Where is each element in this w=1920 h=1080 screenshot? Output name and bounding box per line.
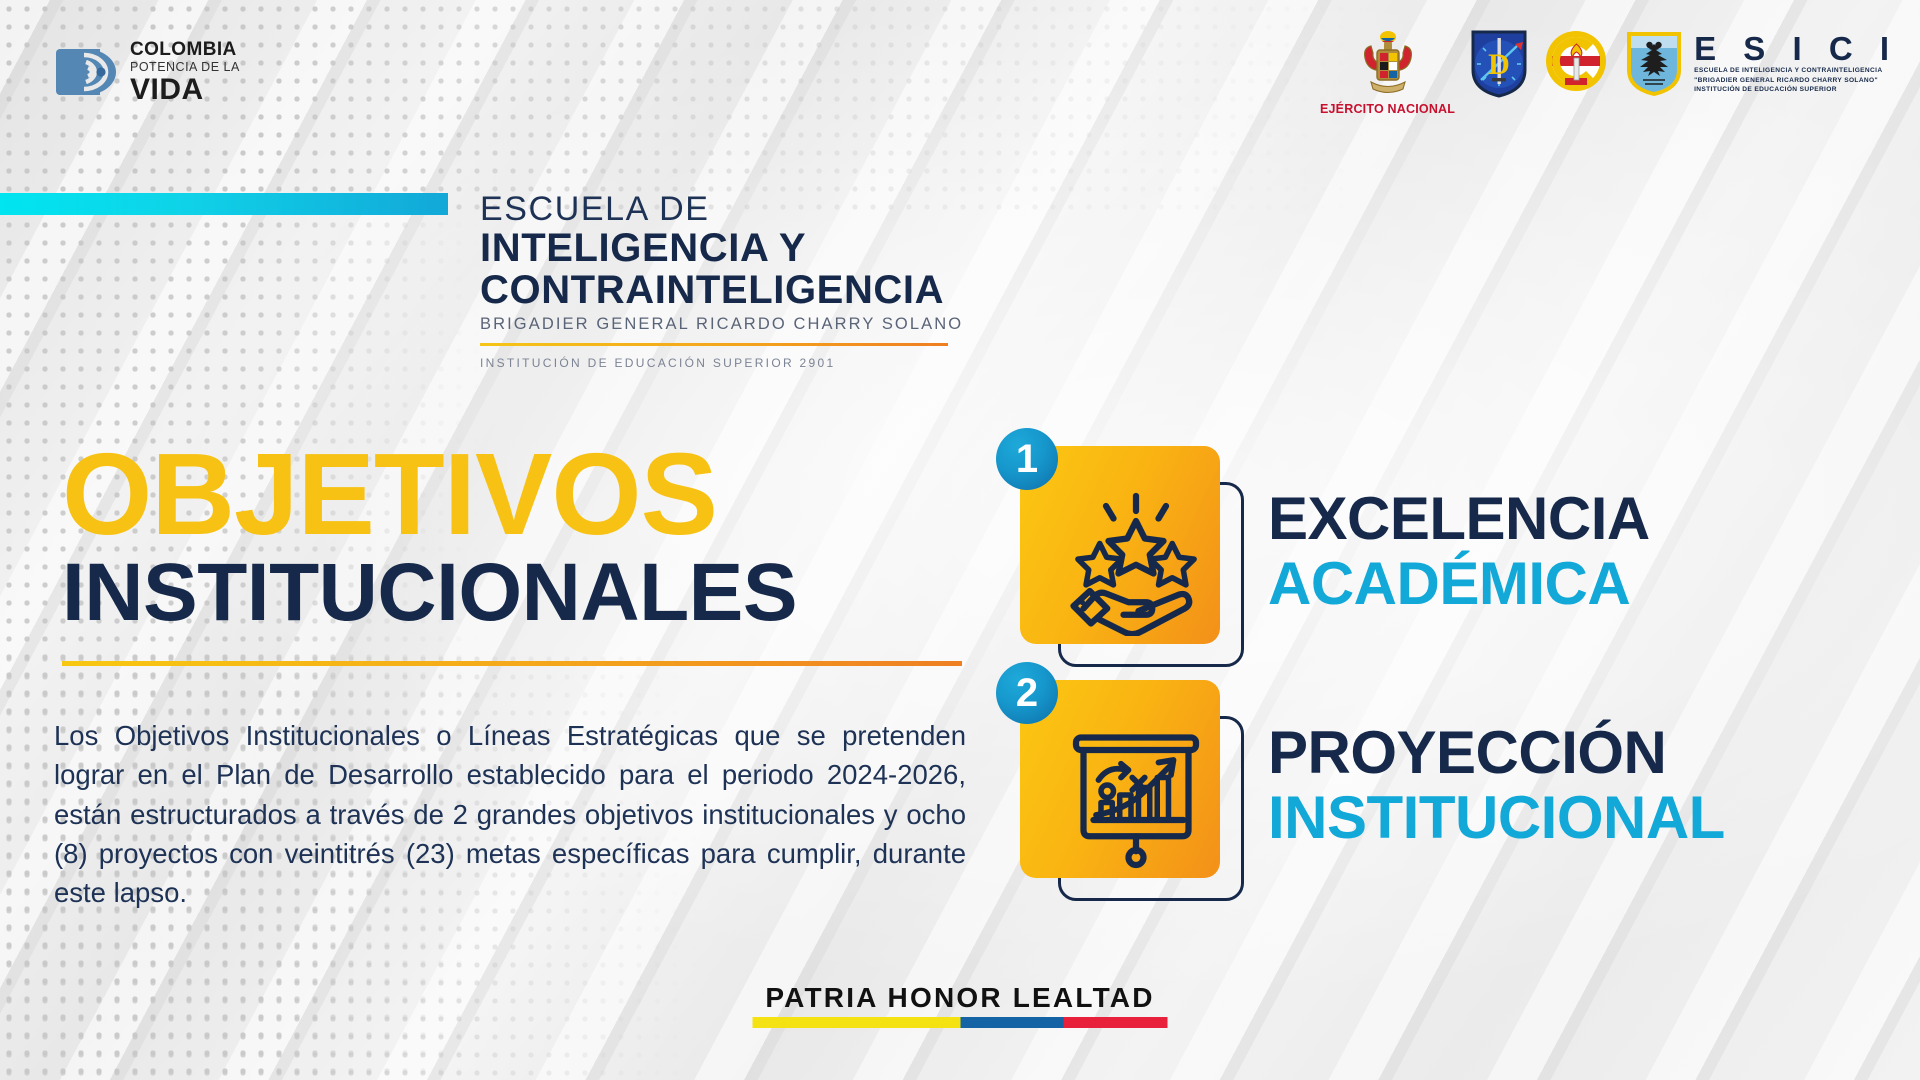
objective-1-badge: 1 bbox=[996, 428, 1058, 490]
school-header-line4: BRIGADIER GENERAL RICARDO CHARRY SOLANO bbox=[480, 315, 963, 334]
svg-text:D: D bbox=[1488, 48, 1510, 81]
esici-logo-block: E S I C I ESCUELA DE INTELIGENCIA Y CONT… bbox=[1623, 28, 1898, 98]
page-title-line1: OBJETIVOS bbox=[62, 440, 962, 549]
presentation-growth-chart-icon bbox=[1060, 720, 1212, 870]
objective-1-icon-card: 1 bbox=[1020, 446, 1230, 656]
school-header-block: ESCUELA DE INTELIGENCIA Y CONTRAINTELIGE… bbox=[480, 192, 963, 370]
colombia-logo-line1: COLOMBIA bbox=[130, 40, 240, 59]
intro-paragraph: Los Objetivos Institucionales o Líneas E… bbox=[54, 716, 966, 913]
page-title-divider bbox=[62, 661, 962, 666]
coat-of-arms-colombia-crest-icon bbox=[1351, 28, 1425, 100]
dinamarca-d-shield-crest-icon: D bbox=[1469, 28, 1529, 98]
objective-1-line1: EXCELENCIA bbox=[1268, 489, 1650, 549]
objective-2-icon-card: 2 bbox=[1020, 680, 1230, 890]
hand-holding-stars-icon bbox=[1060, 486, 1212, 636]
colombia-logo-line3: VIDA bbox=[130, 75, 240, 105]
page-title: OBJETIVOS INSTITUCIONALES bbox=[62, 440, 962, 666]
esici-sub1: ESCUELA DE INTELIGENCIA Y CONTRAINTELIGE… bbox=[1694, 68, 1898, 75]
colombia-potencia-de-la-vida-logo: COLOMBIA POTENCIA DE LA VIDA bbox=[56, 40, 240, 105]
objective-1-line2: ACADÉMICA bbox=[1268, 554, 1650, 614]
esici-sub2: "BRIGADIER GENERAL RICARDO CHARRY SOLANO… bbox=[1694, 78, 1898, 85]
flag-stripe-yellow bbox=[753, 1017, 961, 1028]
flag-stripe-red bbox=[1064, 1017, 1168, 1028]
cyan-accent-bar bbox=[0, 193, 448, 215]
flag-stripe-blue bbox=[960, 1017, 1064, 1028]
esici-acronym: E S I C I bbox=[1694, 32, 1898, 65]
colombia-government-mark-icon bbox=[56, 41, 120, 103]
ejercito-nacional-label: EJÉRCITO NACIONAL bbox=[1320, 102, 1455, 116]
school-header-divider bbox=[480, 343, 948, 346]
colombian-flag-bar bbox=[753, 1017, 1168, 1028]
page-title-line2: INSTITUCIONALES bbox=[62, 551, 962, 635]
school-header-line1: ESCUELA DE bbox=[480, 192, 963, 227]
objective-2-line2: INSTITUCIONAL bbox=[1268, 788, 1725, 848]
ejercito-nacional-crest-block: EJÉRCITO NACIONAL bbox=[1320, 28, 1455, 116]
school-header-line2: INTELIGENCIA Y bbox=[480, 227, 963, 269]
footer-motto-text: PATRIA HONOR LEALTAD bbox=[753, 984, 1168, 1012]
torch-c-emblem-crest-icon bbox=[1543, 28, 1609, 94]
school-header-line3: CONTRAINTELIGENCIA bbox=[480, 269, 963, 311]
objective-card-2[interactable]: 2 PROYECCIÓN INSTITUCIONAL bbox=[1020, 680, 1725, 890]
esici-eagle-shield-crest-icon bbox=[1623, 28, 1685, 98]
colombia-logo-line2: POTENCIA DE LA bbox=[130, 61, 240, 74]
institutional-logo-row: EJÉRCITO NACIONAL D bbox=[1320, 28, 1898, 116]
objective-card-1[interactable]: 1 EXCELENCIA ACADÉMICA bbox=[1020, 446, 1650, 656]
footer-motto-block: PATRIA HONOR LEALTAD bbox=[753, 984, 1168, 1028]
objective-2-line1: PROYECCIÓN bbox=[1268, 723, 1725, 783]
objective-2-badge: 2 bbox=[996, 662, 1058, 724]
esici-sub3: INSTITUCIÓN DE EDUCACIÓN SUPERIOR bbox=[1694, 87, 1898, 94]
school-header-line5: INSTITUCIÓN DE EDUCACIÓN SUPERIOR 2901 bbox=[480, 356, 963, 370]
